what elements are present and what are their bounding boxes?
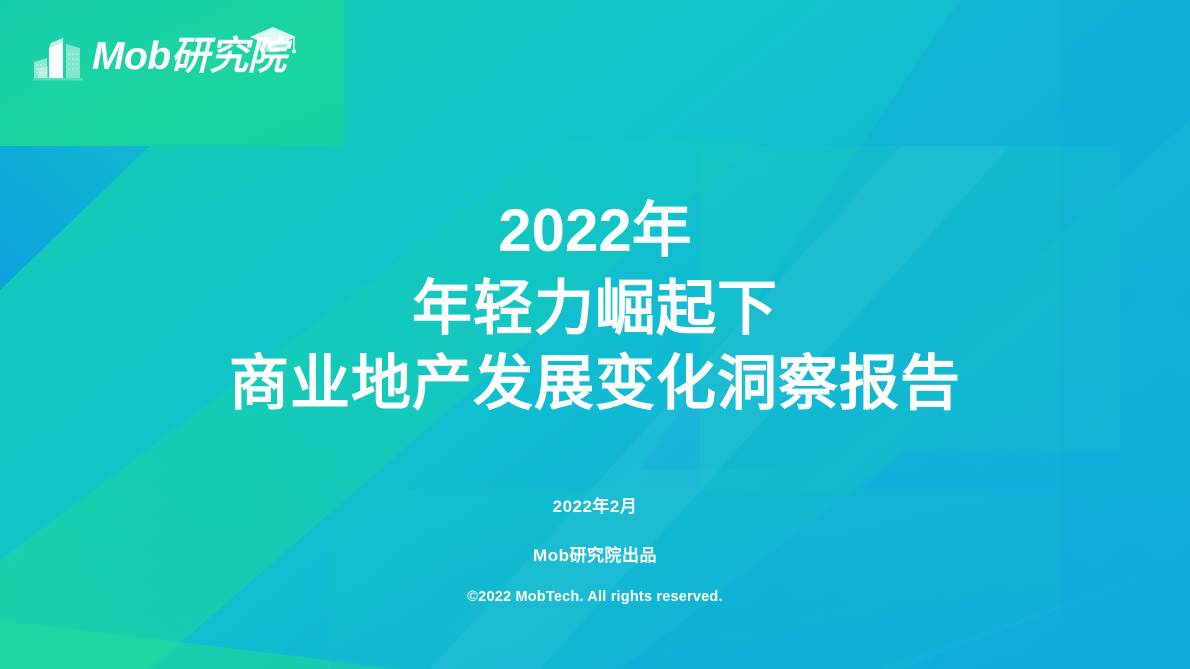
title-line-year: 2022年 [0,196,1190,266]
publication-date: 2022年2月 [0,492,1190,517]
copyright-notice: ©2022 MobTech. All rights reserved. [0,589,1190,605]
graduation-cap-icon [247,24,299,56]
title-line-theme: 年轻力崛起下 [0,274,1190,344]
report-title: 2022年 年轻力崛起下 商业地产发展变化洞察报告 [0,196,1190,419]
title-line-subject: 商业地产发展变化洞察报告 [0,349,1190,419]
producer-name: Mob研究院出品 [0,541,1190,566]
logo-wordmark: Mob研究院 [92,28,286,84]
report-cover-slide: Mob研究院 2022年 年轻力崛起下 商业地产发展变化洞察报告 2022年2月… [0,0,1190,669]
building-cluster-icon [30,28,88,84]
brand-logo: Mob研究院 [30,22,286,84]
report-metadata: 2022年2月 Mob研究院出品 ©2022 MobTech. All righ… [0,492,1190,605]
